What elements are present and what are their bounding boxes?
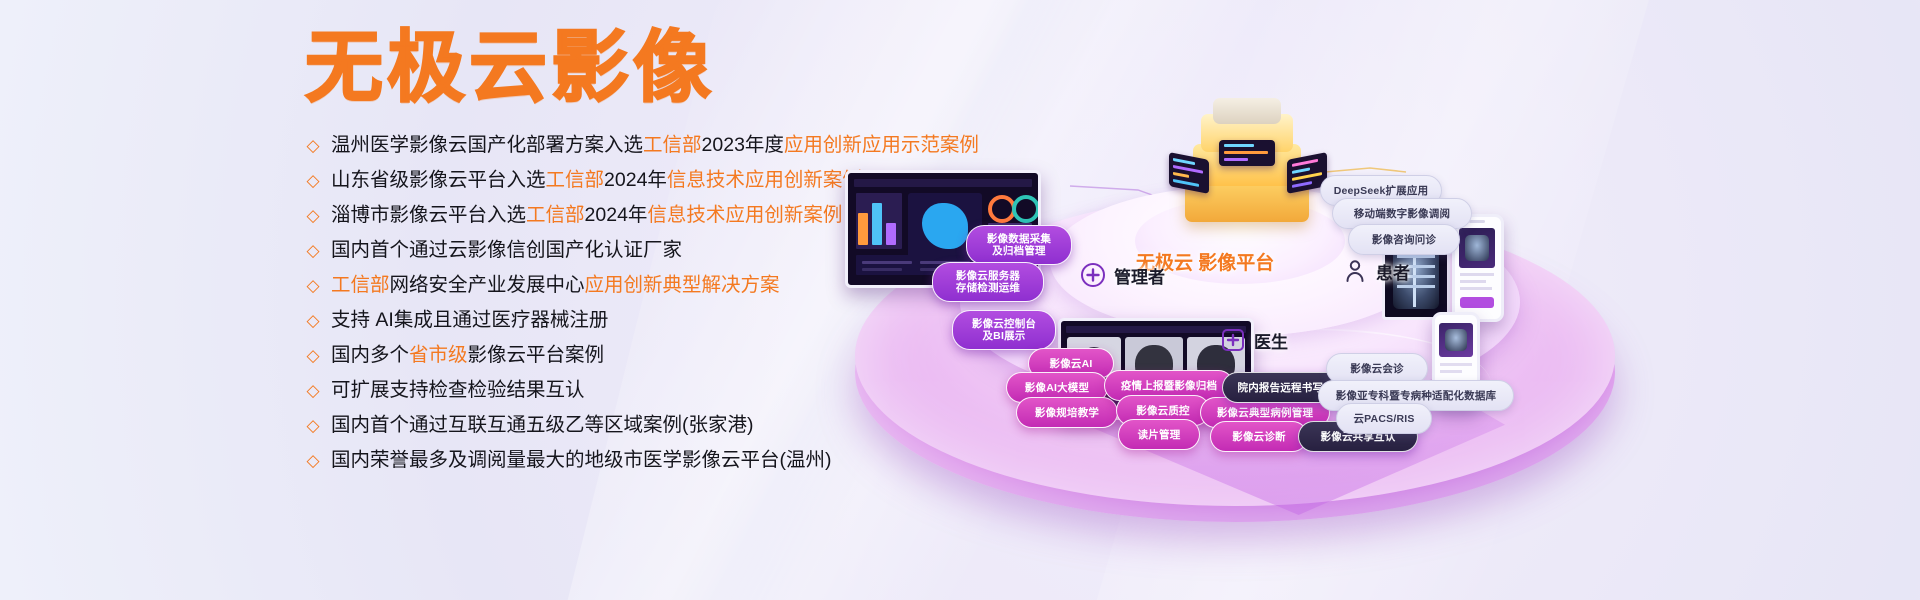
tower-screen-center — [1219, 140, 1275, 166]
diamond-bullet-icon: ◇ — [305, 163, 321, 198]
doctor-badge-icon — [1220, 327, 1246, 353]
bullet-text: 工信部网络安全产业发展中心应用创新典型解决方案 — [331, 268, 780, 303]
bullet-text-segment: 工信部 — [526, 204, 585, 226]
role-patient: 患者 — [1342, 258, 1410, 284]
bullet-text: 淄博市影像云平台入选工信部2024年信息技术应用创新案例 — [331, 198, 842, 233]
diamond-bullet-icon: ◇ — [305, 303, 321, 338]
pill-consultation[interactable]: 影像咨询问诊 — [1348, 224, 1460, 255]
role-doctor-label: 医生 — [1254, 328, 1288, 353]
bullet-text-segment: 工信部 — [643, 134, 702, 156]
bullet-text: 国内首个通过云影像信创国产化认证厂家 — [331, 233, 682, 268]
diamond-bullet-icon: ◇ — [305, 443, 321, 478]
bullet-text-segment: 工信部 — [331, 274, 390, 296]
bullet-text: 山东省级影像云平台入选工信部2024年信息技术应用创新案例 — [331, 163, 862, 198]
tower-screen-left — [1169, 152, 1209, 194]
central-tower — [1167, 98, 1327, 238]
bullet-text: 温州医学影像云国产化部署方案入选工信部2023年度应用创新应用示范案例 — [331, 128, 979, 163]
role-admin-label: 管理者 — [1114, 263, 1165, 288]
mobile-phone-mockup — [1452, 214, 1504, 322]
bullet-text: 支持 AI集成且通过医疗器械注册 — [331, 303, 608, 338]
bullet-item: ◇国内荣誉最多及调阅量最大的地级市医学影像云平台(温州) — [305, 443, 955, 478]
bullet-text-segment: 2024年 — [604, 169, 667, 191]
bullet-text-segment: 影像云平台案例 — [468, 344, 605, 366]
plus-circle-icon — [1080, 262, 1106, 288]
bullet-text-segment: 国内首个通过互联互通五级乙等区域案例(张家港) — [331, 414, 754, 436]
pill-training-teaching[interactable]: 影像规培教学 — [1016, 397, 1118, 428]
bullet-text-segment: 网络安全产业发展中心 — [390, 274, 585, 296]
bullet-text-segment: 温州医学影像云国产化部署方案入选 — [331, 134, 643, 156]
diamond-bullet-icon: ◇ — [305, 338, 321, 373]
page-title: 无极云影像 — [305, 22, 715, 114]
diamond-bullet-icon: ◇ — [305, 233, 321, 268]
bullet-text-segment: 支持 AI集成且通过医疗器械注册 — [331, 309, 608, 331]
pill-server-storage[interactable]: 影像云服务器 存储检测运维 — [932, 262, 1044, 302]
bullet-item: ◇温州医学影像云国产化部署方案入选工信部2023年度应用创新应用示范案例 — [305, 128, 955, 163]
bullet-item: ◇支持 AI集成且通过医疗器械注册 — [305, 303, 955, 338]
role-patient-label: 患者 — [1376, 259, 1410, 284]
role-admin: 管理者 — [1080, 262, 1165, 288]
bullet-text-segment: 淄博市影像云平台入选 — [331, 204, 526, 226]
bullet-text-segment: 2024年 — [585, 204, 648, 226]
tower-cap — [1213, 98, 1281, 124]
bullet-text-segment: 2023年度 — [702, 134, 784, 156]
bullet-text-segment: 应用创新典型解决方案 — [585, 274, 780, 296]
pill-capture-archive[interactable]: 影像数据采集 及归档管理 — [966, 225, 1072, 265]
bullet-text: 可扩展支持检查检验结果互认 — [331, 373, 585, 408]
bullet-text-segment: 山东省级影像云平台入选 — [331, 169, 546, 191]
platform-illustration: 无极云 影像平台 — [930, 0, 1920, 600]
bullet-text-segment: 信息技术应用创新案例 — [647, 204, 842, 226]
bullet-text-segment: 省市级 — [409, 344, 468, 366]
bullet-text-segment: 信息技术应用创新案例 — [667, 169, 862, 191]
bullet-text-segment: 国内荣誉最多及调阅量最大的地级市医学影像云平台(温州) — [331, 449, 832, 471]
bullet-text: 国内首个通过互联互通五级乙等区域案例(张家港) — [331, 408, 754, 443]
bullet-text-segment: 可扩展支持检查检验结果互认 — [331, 379, 585, 401]
diamond-bullet-icon: ◇ — [305, 408, 321, 443]
bullet-item: ◇国内首个通过互联互通五级乙等区域案例(张家港) — [305, 408, 955, 443]
bullet-text-segment: 工信部 — [546, 169, 605, 191]
left-content-column: 无极云影像 ◇温州医学影像云国产化部署方案入选工信部2023年度应用创新应用示范… — [0, 0, 960, 600]
diamond-bullet-icon: ◇ — [305, 373, 321, 408]
diamond-bullet-icon: ◇ — [305, 268, 321, 303]
banner-stage: 无极云影像 ◇温州医学影像云国产化部署方案入选工信部2023年度应用创新应用示范… — [0, 0, 1920, 600]
pill-pacs-ris[interactable]: 云PACS/RIS — [1336, 403, 1432, 434]
pill-diagnosis[interactable]: 影像云诊断 — [1210, 421, 1308, 452]
person-icon — [1342, 258, 1368, 284]
diamond-bullet-icon: ◇ — [305, 198, 321, 233]
diamond-bullet-icon: ◇ — [305, 128, 321, 163]
pill-console-bi[interactable]: 影像云控制台 及BI展示 — [952, 310, 1056, 350]
bullet-text: 国内多个省市级影像云平台案例 — [331, 338, 604, 373]
pill-reading-mgmt[interactable]: 读片管理 — [1118, 419, 1200, 450]
bullet-text-segment: 国内首个通过云影像信创国产化认证厂家 — [331, 239, 682, 261]
bullet-text: 国内荣誉最多及调阅量最大的地级市医学影像云平台(温州) — [331, 443, 832, 478]
role-doctor: 医生 — [1220, 327, 1288, 353]
bullet-text-segment: 国内多个 — [331, 344, 409, 366]
